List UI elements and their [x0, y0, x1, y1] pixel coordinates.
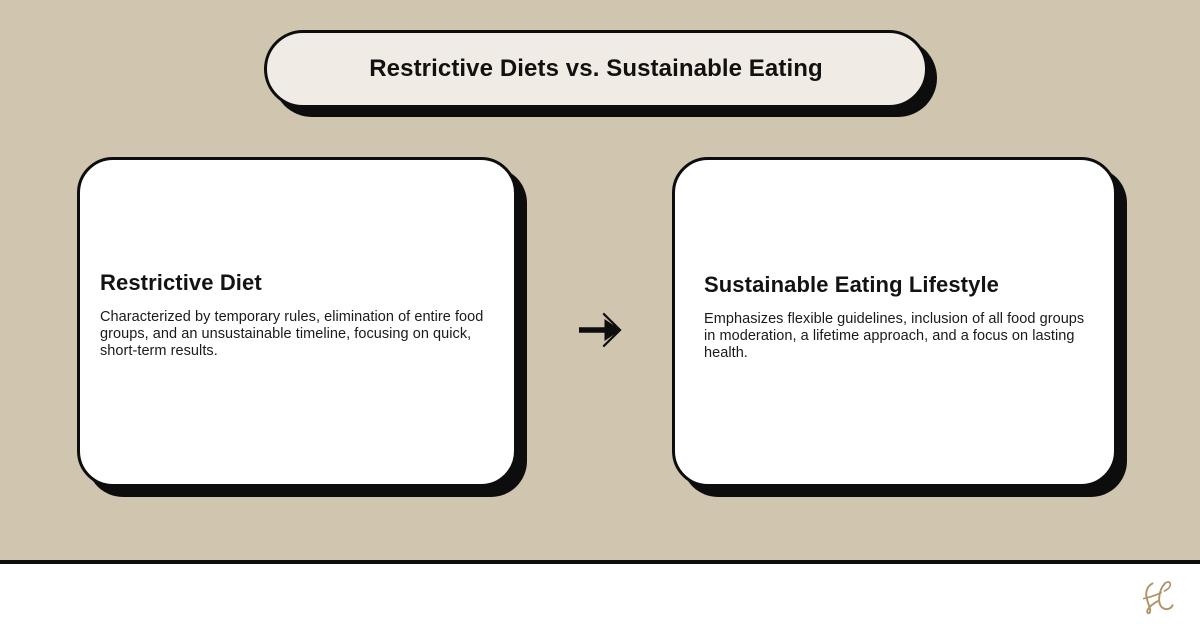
footer-bar: [0, 564, 1200, 630]
card-heading-restrictive-diet: Restrictive Diet: [100, 270, 492, 295]
card-body-sustainable-eating: Emphasizes flexible guidelines, inclusio…: [704, 311, 1090, 361]
infographic-canvas: Restrictive Diets vs. Sustainable Eating…: [0, 0, 1200, 630]
card-heading-sustainable-eating: Sustainable Eating Lifestyle: [704, 272, 1090, 297]
card-content: Restrictive Diet Characterized by tempor…: [100, 270, 492, 360]
card-body-restrictive-diet: Characterized by temporary rules, elimin…: [100, 309, 492, 359]
infographic-stage: Restrictive Diets vs. Sustainable Eating…: [0, 0, 1200, 560]
comparison-card-restrictive-diet: Restrictive Diet Characterized by tempor…: [77, 157, 517, 487]
card-content: Sustainable Eating Lifestyle Emphasizes …: [704, 272, 1090, 362]
page-title: Restrictive Diets vs. Sustainable Eating: [369, 56, 823, 82]
comparison-card-sustainable-eating: Sustainable Eating Lifestyle Emphasizes …: [672, 157, 1117, 487]
arrow-right-icon: [570, 300, 630, 360]
script-h-logo: [1132, 570, 1186, 624]
title-pill: Restrictive Diets vs. Sustainable Eating: [264, 30, 928, 108]
